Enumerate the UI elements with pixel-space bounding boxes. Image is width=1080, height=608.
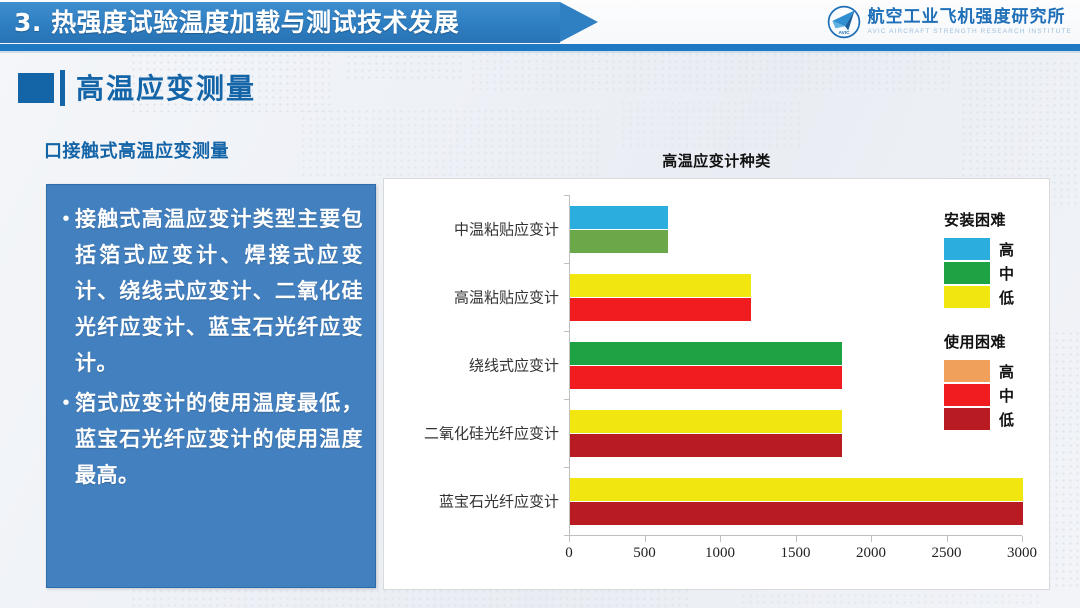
x-axis-tick-label: 1500 — [781, 545, 811, 562]
section-heading-bar-icon — [60, 70, 65, 106]
chart-bar-segment — [570, 298, 751, 321]
legend-spacer — [944, 309, 1049, 331]
dot-pattern-decoration — [130, 588, 690, 608]
bullet-dot-icon: • — [57, 385, 75, 421]
bullet-text: 接触式高温应变计类型主要包括箔式应变计、焊接式应变计、绕线式应变计、二氧化硅光纤… — [75, 201, 363, 381]
x-axis-tick — [947, 536, 948, 542]
legend-item-label: 低 — [999, 409, 1014, 430]
page-title: 高温应变测量 — [76, 70, 256, 108]
legend-color-swatch — [944, 360, 990, 382]
bullet-panel: • 接触式高温应变计类型主要包括箔式应变计、焊接式应变计、绕线式应变计、二氧化硅… — [46, 184, 376, 588]
chart-legend: 安装困难高中低使用困难高中低 — [944, 209, 1049, 431]
x-axis-tick — [871, 536, 872, 542]
slide-header: 3. 热强度试验温度加载与测试技术发展 AVIC 航空工业飞机强度研究所 AVI… — [0, 0, 1080, 44]
dot-pattern-decoration — [740, 592, 1040, 608]
y-axis-tick — [564, 195, 569, 196]
svg-text:AVIC: AVIC — [838, 30, 850, 36]
legend-color-swatch — [944, 384, 990, 406]
x-axis-tick-label: 2000 — [856, 545, 886, 562]
legend-item[interactable]: 低 — [944, 407, 1049, 431]
legend-color-swatch — [944, 262, 990, 284]
chevron-tip-icon — [560, 2, 598, 42]
legend-item[interactable]: 高 — [944, 359, 1049, 383]
y-axis-category-label: 二氧化硅光纤应变计 — [424, 423, 559, 444]
chart-bar-segment — [570, 502, 1023, 525]
legend-item[interactable]: 高 — [944, 237, 1049, 261]
legend-item[interactable]: 中 — [944, 383, 1049, 407]
legend-item[interactable]: 低 — [944, 285, 1049, 309]
x-axis-tick-label: 2500 — [932, 545, 962, 562]
legend-item-label: 中 — [999, 263, 1014, 284]
chart-bar-segment — [570, 366, 842, 389]
dot-pattern-decoration — [620, 100, 800, 150]
legend-color-swatch — [944, 408, 990, 430]
y-axis-tick — [564, 331, 569, 332]
x-axis-tick — [569, 536, 570, 542]
legend-group-title: 安装困难 — [944, 209, 1049, 230]
chart-bar-segment — [570, 342, 842, 365]
chart-bar-segment — [570, 274, 751, 297]
logo-english-name: AVIC AIRCRAFT STRENGTH RESEARCH INSTITUT… — [868, 29, 1073, 36]
legend-item-label: 高 — [999, 239, 1014, 260]
bullet-item: • 箔式应变计的使用温度最低，蓝宝石光纤应变计的使用温度最高。 — [57, 385, 363, 493]
chart-bar-segment — [570, 410, 842, 433]
bullet-item: • 接触式高温应变计类型主要包括箔式应变计、焊接式应变计、绕线式应变计、二氧化硅… — [57, 201, 363, 381]
x-axis-tick-label: 500 — [633, 545, 656, 562]
section-heading-block-icon — [18, 73, 54, 103]
legend-group-title: 使用困难 — [944, 331, 1049, 352]
x-axis-tick — [720, 536, 721, 542]
page-subtitle: 口接触式高温应变测量 — [44, 140, 229, 164]
x-axis-tick-label: 0 — [565, 545, 573, 562]
chart-bar-segment — [570, 206, 668, 229]
chart-container: 050010001500200025003000 中温粘贴应变计高温粘贴应变计绕… — [383, 178, 1050, 590]
chart-bar-segment — [570, 478, 1023, 501]
logo-text-block: 航空工业飞机强度研究所 AVIC AIRCRAFT STRENGTH RESEA… — [868, 9, 1073, 36]
logo-chinese-name: 航空工业飞机强度研究所 — [868, 9, 1073, 26]
x-axis-tick-label: 1000 — [705, 545, 735, 562]
header-rule — [0, 44, 1080, 51]
y-axis-category-label: 中温粘贴应变计 — [454, 219, 559, 240]
x-axis-tick — [645, 536, 646, 542]
section-title-chevron: 3. 热强度试验温度加载与测试技术发展 — [0, 2, 600, 43]
legend-color-swatch — [944, 286, 990, 308]
avic-swallow-logo-icon: AVIC — [827, 5, 861, 39]
section-title-text: 3. 热强度试验温度加载与测试技术发展 — [14, 2, 459, 43]
legend-item-label: 高 — [999, 361, 1014, 382]
x-axis-tick-label: 3000 — [1007, 545, 1037, 562]
y-axis-tick — [564, 399, 569, 400]
y-axis-category-label: 高温粘贴应变计 — [454, 287, 559, 308]
legend-color-swatch — [944, 238, 990, 260]
x-axis-tick — [1022, 536, 1023, 542]
y-axis-category-label: 绕线式应变计 — [469, 355, 559, 376]
y-axis-tick — [564, 263, 569, 264]
slide-canvas: 3. 热强度试验温度加载与测试技术发展 AVIC 航空工业飞机强度研究所 AVI… — [0, 0, 1080, 608]
y-axis-tick — [564, 467, 569, 468]
legend-item-label: 低 — [999, 287, 1014, 308]
chart-bar-segment — [570, 434, 842, 457]
x-axis-tick — [796, 536, 797, 542]
chart-bar-segment — [570, 230, 668, 253]
bullet-dot-icon: • — [57, 201, 75, 237]
chart-title: 高温应变计种类 — [383, 150, 1050, 172]
bullet-text: 箔式应变计的使用温度最低，蓝宝石光纤应变计的使用温度最高。 — [75, 385, 363, 493]
y-axis-category-label: 蓝宝石光纤应变计 — [439, 491, 559, 512]
header-rule-shadow — [0, 51, 1080, 53]
avic-logo: AVIC 航空工业飞机强度研究所 AVIC AIRCRAFT STRENGTH … — [827, 3, 1073, 41]
legend-item[interactable]: 中 — [944, 261, 1049, 285]
legend-item-label: 中 — [999, 385, 1014, 406]
